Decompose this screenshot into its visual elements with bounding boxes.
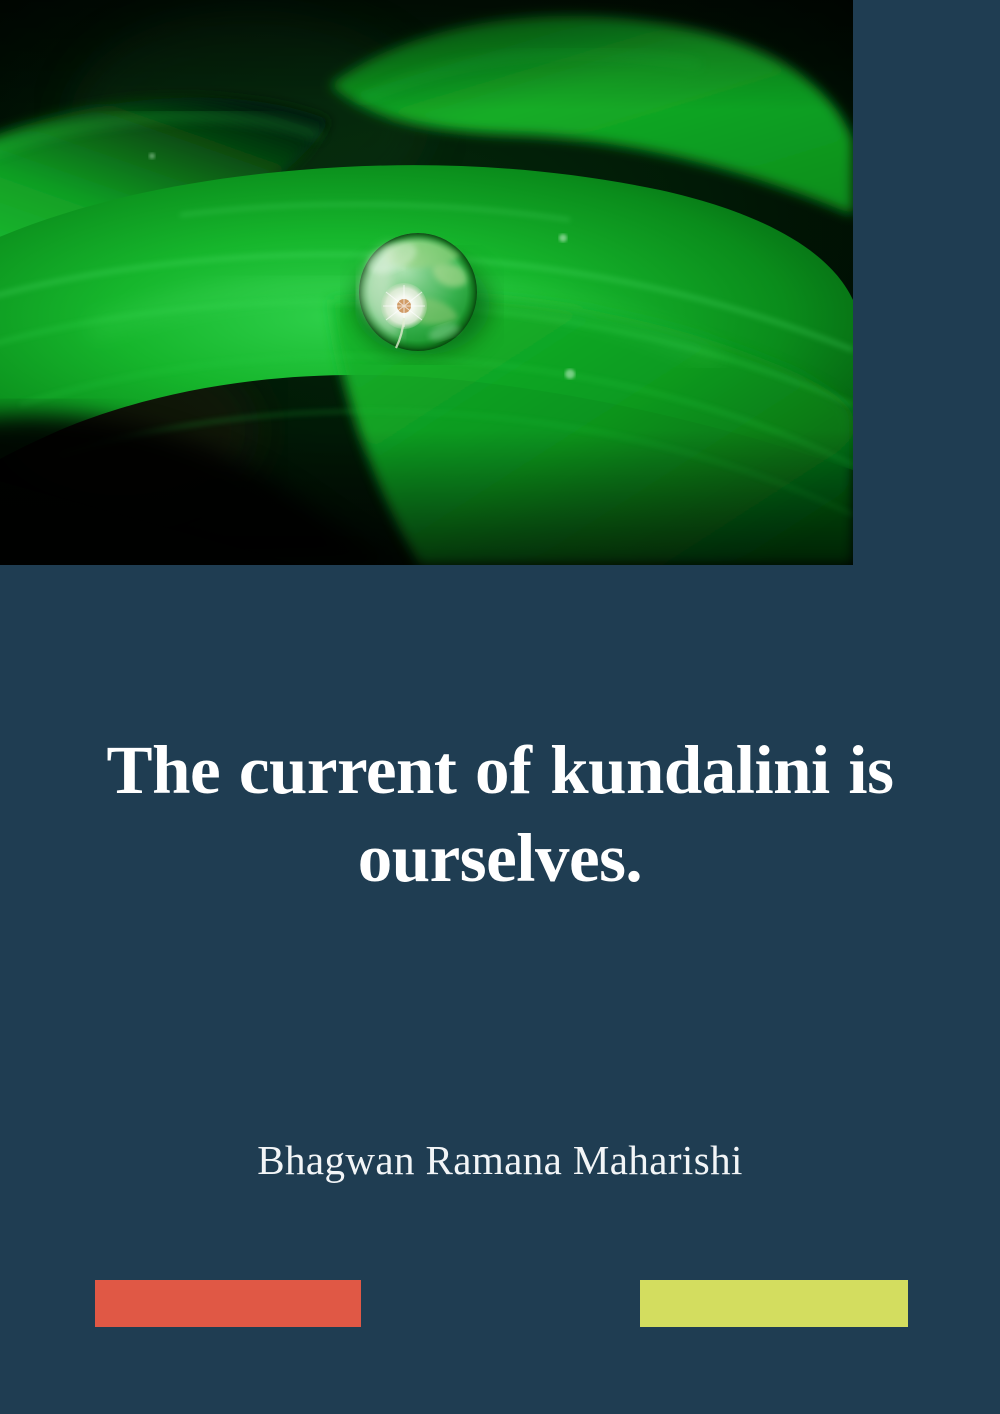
photo-illustration <box>0 0 853 565</box>
author-container: Bhagwan Ramana Maharishi <box>0 1136 1000 1185</box>
quote-container: The current of kundalini is ourselves. <box>28 726 972 903</box>
quote-poster: The current of kundalini is ourselves. B… <box>0 0 1000 1414</box>
author-name: Bhagwan Ramana Maharishi <box>0 1136 1000 1185</box>
accent-bar-left <box>95 1280 361 1327</box>
accent-bar-right <box>640 1280 908 1327</box>
quote-text: The current of kundalini is ourselves. <box>28 726 972 903</box>
water-droplet <box>359 233 477 351</box>
leaf-droplet-photo <box>0 0 853 565</box>
